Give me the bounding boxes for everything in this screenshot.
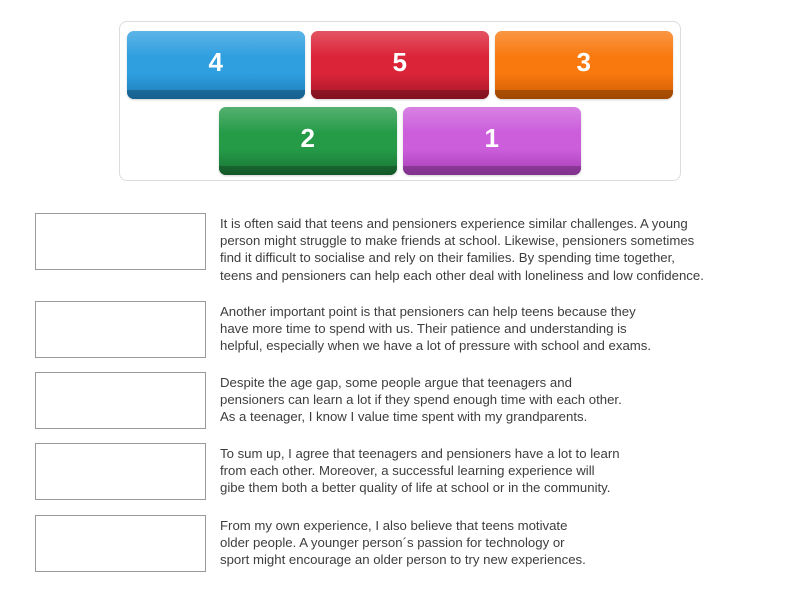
tile-label: 2 bbox=[301, 123, 316, 154]
drop-zone-3[interactable] bbox=[35, 372, 206, 429]
tile-row-1: 4 5 3 bbox=[120, 31, 680, 101]
match-row: Despite the age gap, some people argue t… bbox=[0, 372, 800, 429]
drop-zone-2[interactable] bbox=[35, 301, 206, 358]
match-row: Another important point is that pensione… bbox=[0, 301, 800, 358]
match-row: It is often said that teens and pensione… bbox=[0, 213, 800, 284]
tile-label: 5 bbox=[393, 47, 408, 78]
drop-zone-1[interactable] bbox=[35, 213, 206, 270]
tile-1[interactable]: 1 bbox=[403, 107, 581, 175]
item-text-3: Despite the age gap, some people argue t… bbox=[220, 374, 782, 426]
tile-2[interactable]: 2 bbox=[219, 107, 397, 175]
drop-zone-4[interactable] bbox=[35, 443, 206, 500]
item-text-1: It is often said that teens and pensione… bbox=[220, 215, 782, 284]
match-list: It is often said that teens and pensione… bbox=[0, 196, 800, 572]
item-text-4: To sum up, I agree that teenagers and pe… bbox=[220, 445, 782, 497]
tile-label: 3 bbox=[577, 47, 592, 78]
tile-row-2: 2 1 bbox=[120, 107, 680, 177]
tile-5[interactable]: 5 bbox=[311, 31, 489, 99]
tile-label: 4 bbox=[209, 47, 224, 78]
tile-4[interactable]: 4 bbox=[127, 31, 305, 99]
match-row: From my own experience, I also believe t… bbox=[0, 515, 800, 572]
tile-label: 1 bbox=[485, 123, 500, 154]
tile-3[interactable]: 3 bbox=[495, 31, 673, 99]
item-text-5: From my own experience, I also believe t… bbox=[220, 517, 782, 569]
answer-tile-tray: 4 5 3 2 1 bbox=[119, 21, 681, 181]
match-row: To sum up, I agree that teenagers and pe… bbox=[0, 443, 800, 500]
drop-zone-5[interactable] bbox=[35, 515, 206, 572]
item-text-2: Another important point is that pensione… bbox=[220, 303, 782, 355]
